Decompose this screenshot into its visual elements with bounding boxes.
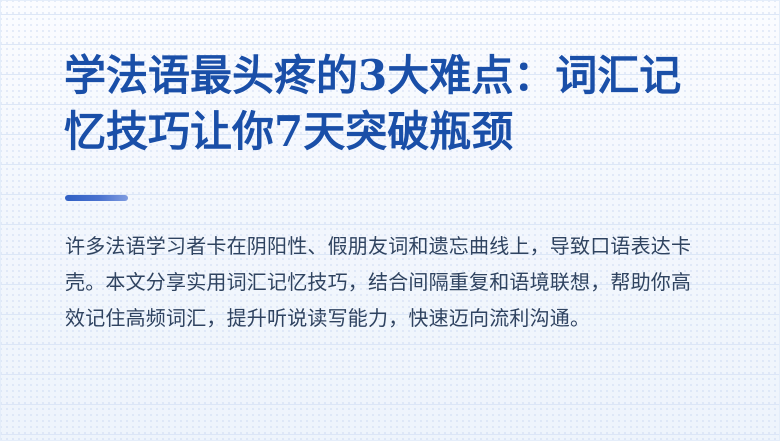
article-card: 学法语最头疼的3大难点：词汇记忆技巧让你7天突破瓶颈 许多法语学习者卡在阴阳性、… [0,0,780,441]
page-title: 学法语最头疼的3大难点：词汇记忆技巧让你7天突破瓶颈 [64,48,712,160]
article-summary: 许多法语学习者卡在阴阳性、假朋友词和遗忘曲线上，导致口语表达卡壳。本文分享实用词… [65,228,705,336]
title-divider [65,195,128,201]
content-column: 学法语最头疼的3大难点：词汇记忆技巧让你7天突破瓶颈 许多法语学习者卡在阴阳性、… [64,0,712,441]
